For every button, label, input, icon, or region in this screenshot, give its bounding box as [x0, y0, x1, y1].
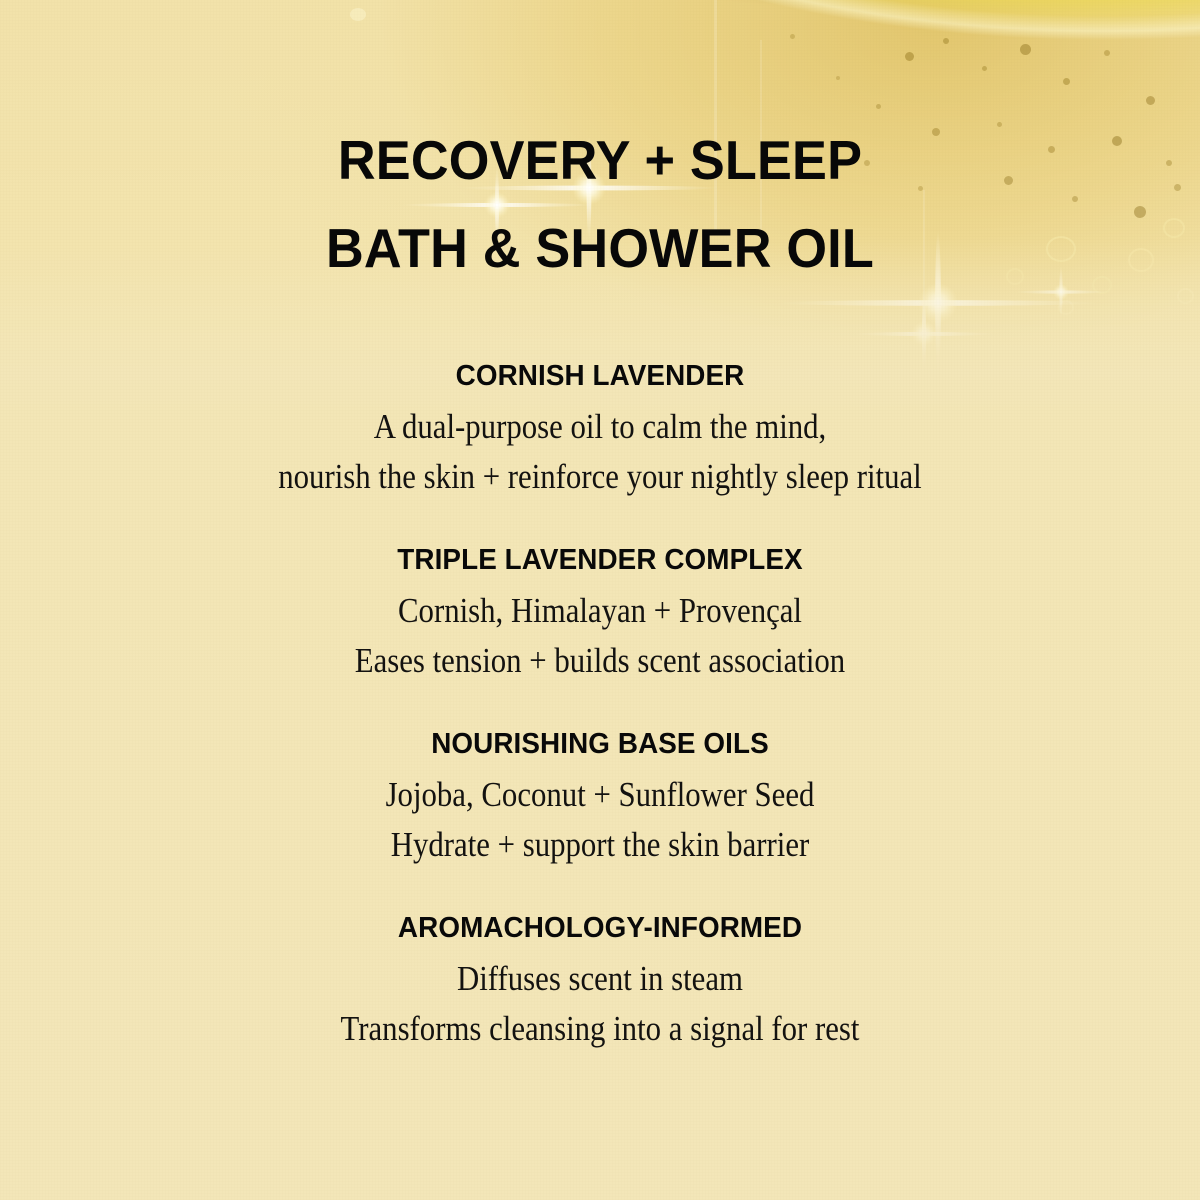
section-line: Diffuses scent in steam: [72, 954, 1128, 1004]
benefit-section-aromachology-informed: AROMACHOLOGY-INFORMED Diffuses scent in …: [0, 908, 1200, 1054]
benefit-section-cornish-lavender: CORNISH LAVENDER A dual-purpose oil to c…: [0, 356, 1200, 502]
section-line: Hydrate + support the skin barrier: [72, 820, 1128, 870]
poster-content: RECOVERY + SLEEP BATH & SHOWER OIL CORNI…: [0, 0, 1200, 1200]
section-heading: CORNISH LAVENDER: [24, 356, 1176, 396]
title-line-1: RECOVERY + SLEEP: [30, 116, 1170, 204]
section-body: Diffuses scent in steam Transforms clean…: [0, 954, 1200, 1054]
section-line: nourish the skin + reinforce your nightl…: [72, 452, 1128, 502]
section-body: A dual-purpose oil to calm the mind, nou…: [0, 402, 1200, 502]
section-heading: NOURISHING BASE OILS: [24, 724, 1176, 764]
section-line: Jojoba, Coconut + Sunflower Seed: [72, 770, 1128, 820]
benefit-sections: CORNISH LAVENDER A dual-purpose oil to c…: [0, 356, 1200, 1054]
title-line-2: BATH & SHOWER OIL: [30, 204, 1170, 292]
section-line: Cornish, Himalayan + Provençal: [72, 586, 1128, 636]
section-line: Transforms cleansing into a signal for r…: [72, 1004, 1128, 1054]
product-benefits-poster: RECOVERY + SLEEP BATH & SHOWER OIL CORNI…: [0, 0, 1200, 1200]
section-line: Eases tension + builds scent association: [72, 636, 1128, 686]
section-body: Jojoba, Coconut + Sunflower Seed Hydrate…: [0, 770, 1200, 870]
section-heading: TRIPLE LAVENDER COMPLEX: [24, 540, 1176, 580]
poster-title: RECOVERY + SLEEP BATH & SHOWER OIL: [0, 116, 1200, 292]
section-heading: AROMACHOLOGY-INFORMED: [24, 908, 1176, 948]
benefit-section-triple-lavender-complex: TRIPLE LAVENDER COMPLEX Cornish, Himalay…: [0, 540, 1200, 686]
section-body: Cornish, Himalayan + Provençal Eases ten…: [0, 586, 1200, 686]
benefit-section-nourishing-base-oils: NOURISHING BASE OILS Jojoba, Coconut + S…: [0, 724, 1200, 870]
section-line: A dual-purpose oil to calm the mind,: [72, 402, 1128, 452]
